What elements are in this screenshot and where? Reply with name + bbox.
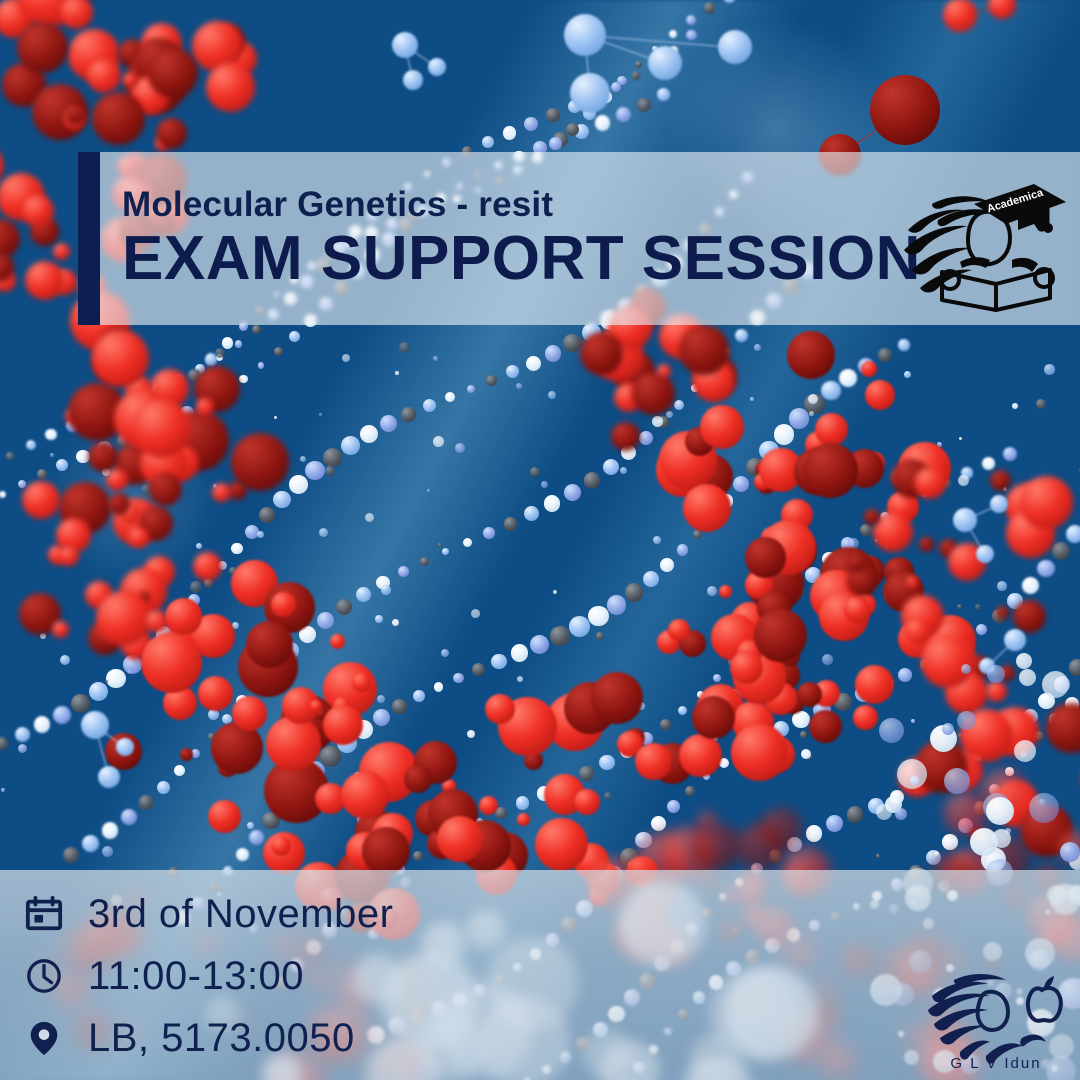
calendar-icon — [24, 894, 64, 934]
academica-logo: Academica — [898, 168, 1068, 313]
detail-row-location: LB, 5173.0050 — [24, 1014, 393, 1062]
course-subtitle: Molecular Genetics - resit — [122, 187, 921, 222]
event-location-value: LB, 5173.0050 — [88, 1016, 355, 1061]
banner-text-block: Molecular Genetics - resit EXAM SUPPORT … — [122, 187, 921, 290]
event-details-panel: 3rd of November 11:00-13:00 — [0, 870, 1080, 1080]
location-pin-icon — [24, 1018, 64, 1058]
detail-row-date: 3rd of November — [24, 890, 393, 938]
detail-row-time: 11:00-13:00 — [24, 952, 393, 1000]
glv-idun-logo: G L V Idun — [926, 968, 1066, 1072]
event-date-value: 3rd of November — [88, 892, 393, 937]
banner-accent-bar — [78, 152, 100, 325]
event-details-list: 3rd of November 11:00-13:00 — [24, 890, 393, 1062]
glv-idun-label: G L V Idun — [950, 1055, 1041, 1072]
clock-icon — [24, 956, 64, 996]
event-headline: EXAM SUPPORT SESSION — [122, 228, 921, 290]
event-time-value: 11:00-13:00 — [88, 954, 304, 999]
poster-canvas: Molecular Genetics - resit EXAM SUPPORT … — [0, 0, 1080, 1080]
title-banner: Molecular Genetics - resit EXAM SUPPORT … — [78, 152, 1080, 325]
